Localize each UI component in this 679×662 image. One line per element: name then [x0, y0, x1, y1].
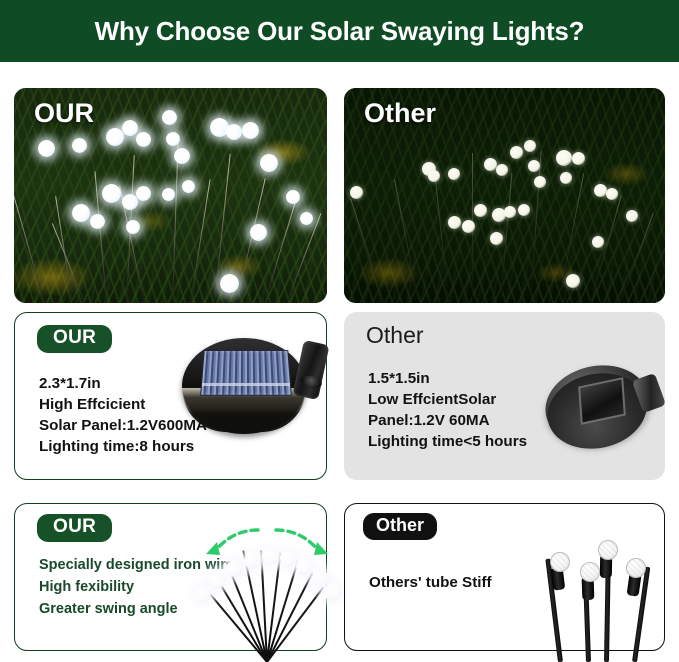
other-photo-label: Other: [364, 98, 436, 129]
rod-bulb: [626, 558, 646, 578]
firefly-bulb: [474, 204, 487, 217]
firefly-bulb: [592, 236, 604, 248]
firefly-bulb: [260, 154, 278, 172]
firefly-bulb: [242, 122, 259, 139]
our-flexible-wire-image: [196, 524, 338, 662]
our-night-photo-panel: OUR: [14, 88, 327, 303]
firefly-bulb: [428, 170, 440, 182]
header-banner: Why Choose Our Solar Swaying Lights?: [0, 0, 679, 62]
rod-bulb: [580, 562, 600, 582]
other-rod-specs: Others' tube Stiff: [369, 572, 492, 593]
firefly-bulb: [72, 138, 87, 153]
spec-line: Low EffcientSolar: [368, 389, 527, 410]
our-solar-panel-image: [176, 332, 326, 440]
firefly-bulb: [102, 184, 121, 203]
firefly-bulb: [534, 176, 546, 188]
firefly-bulb: [448, 168, 460, 180]
spec-line: Lighting time<5 hours: [368, 431, 527, 452]
firefly-bulb: [106, 128, 124, 146]
firefly-bulb: [122, 120, 138, 136]
firefly-bulb: [606, 188, 618, 200]
photovoltaic-cell: [200, 350, 292, 396]
our-photo-label: OUR: [34, 98, 94, 129]
firefly-bulb: [286, 190, 300, 204]
firefly-bulb: [162, 110, 177, 125]
photovoltaic-cell-busbar: [202, 383, 290, 386]
firefly-bulb: [566, 274, 580, 288]
page-title: Why Choose Our Solar Swaying Lights?: [95, 16, 585, 47]
firefly-bulb: [560, 172, 572, 184]
firefly-bulb: [90, 214, 105, 229]
other-badge: Other: [363, 513, 437, 540]
firefly-bulb: [626, 210, 638, 222]
firefly-bulb: [250, 224, 267, 241]
our-badge: OUR: [37, 514, 112, 542]
firefly-bulb: [556, 150, 572, 166]
firefly-bulb: [136, 186, 151, 201]
firefly-bulb: [126, 220, 140, 234]
firefly-bulb: [510, 146, 523, 159]
firefly-bulb: [490, 232, 503, 245]
firefly-bulb: [300, 212, 313, 225]
firefly-bulb: [448, 216, 461, 229]
firefly-bulb: [572, 152, 585, 165]
firefly-bulb: [496, 164, 508, 176]
firefly-bulb: [220, 274, 239, 293]
other-solar-panel-image: [545, 360, 665, 456]
firefly-bulb: [72, 204, 90, 222]
firefly-bulb: [38, 140, 55, 157]
firefly-bulb: [136, 132, 151, 147]
spec-line: Others' tube Stiff: [369, 572, 492, 593]
firefly-bulb: [162, 188, 175, 201]
firefly-bulb: [504, 206, 516, 218]
cable-connector: [292, 340, 329, 400]
swing-arrows-icon: [196, 524, 338, 662]
firefly-bulb: [226, 124, 242, 140]
firefly-bulb: [166, 132, 180, 146]
spec-line: Panel:1.2V 60MA: [368, 410, 527, 431]
other-stiff-rod-image: [528, 540, 678, 662]
firefly-bulb: [462, 220, 475, 233]
other-label: Other: [366, 322, 424, 349]
other-night-photo-panel: Other: [344, 88, 665, 303]
spec-line: 1.5*1.5in: [368, 368, 527, 389]
firefly-bulb: [350, 186, 363, 199]
firefly-bulb: [182, 180, 195, 193]
firefly-bulb: [524, 140, 536, 152]
other-solar-specs: 1.5*1.5in Low EffcientSolar Panel:1.2V 6…: [368, 368, 527, 452]
firefly-bulb: [528, 160, 540, 172]
our-badge: OUR: [37, 325, 112, 353]
rod-bulb: [598, 540, 618, 560]
firefly-bulb: [594, 184, 607, 197]
rod-bulb: [550, 552, 570, 572]
firefly-bulb: [518, 204, 530, 216]
firefly-bulb: [174, 148, 190, 164]
comparison-infographic: Why Choose Our Solar Swaying Lights?: [0, 0, 679, 662]
